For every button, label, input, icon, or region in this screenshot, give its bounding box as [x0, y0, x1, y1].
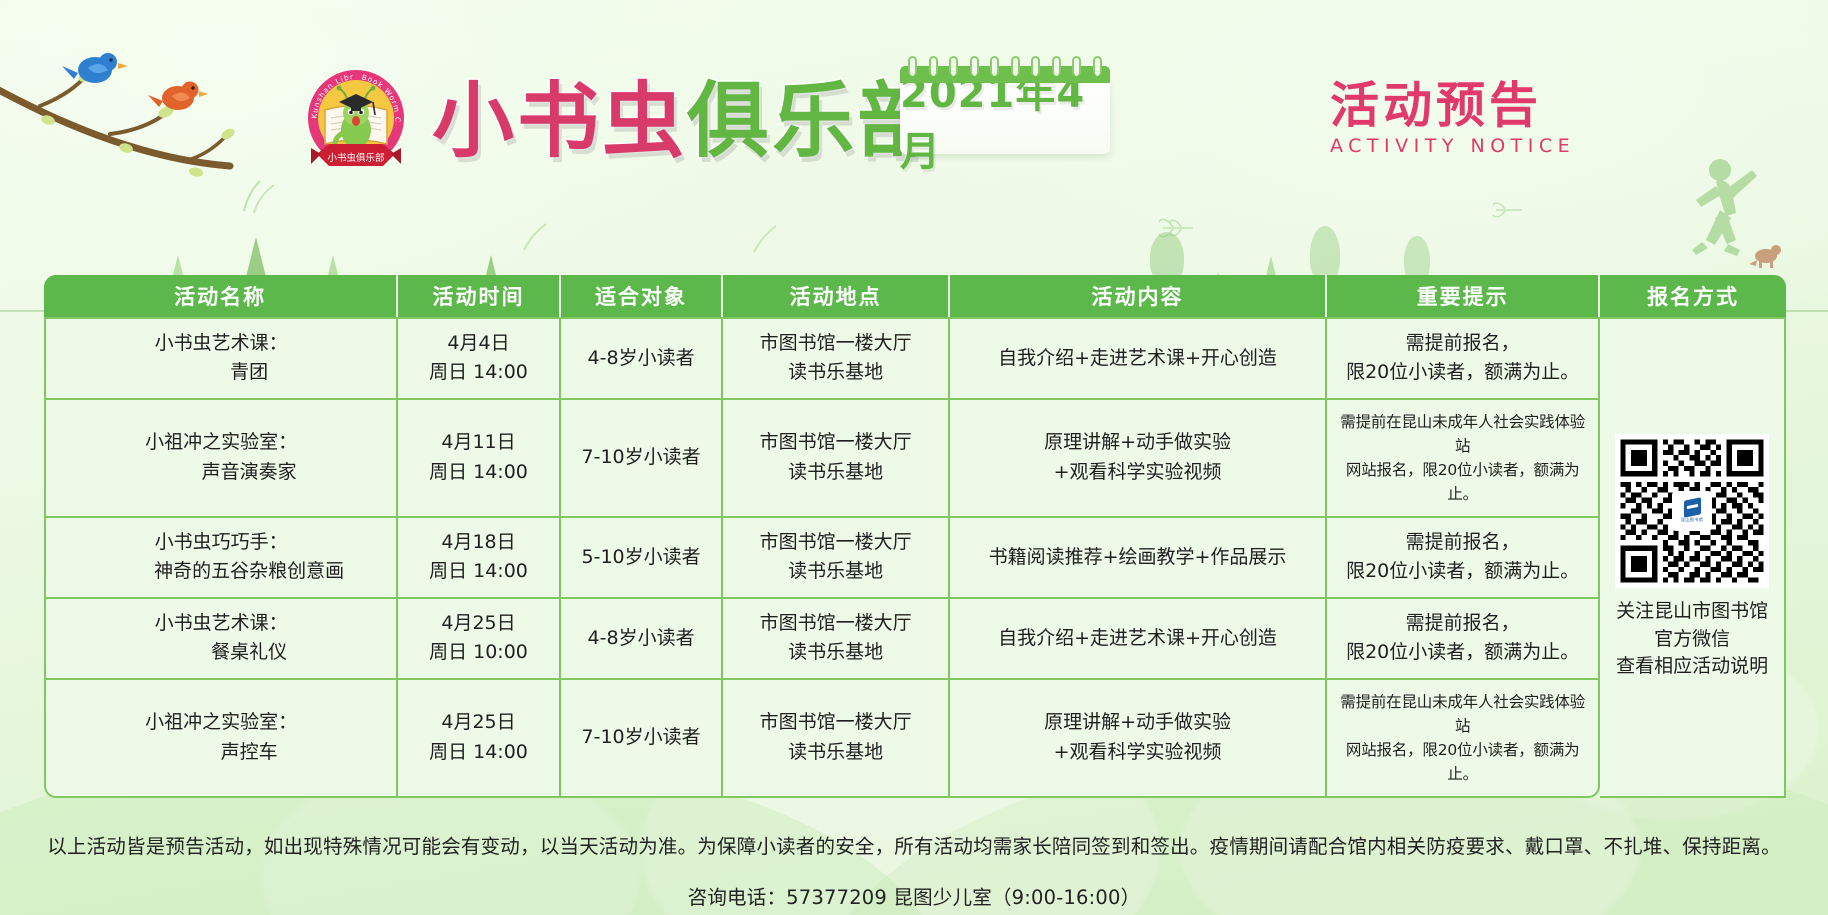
- note-line1: 需提前报名，: [1333, 528, 1592, 557]
- signup-line3: 查看相应活动说明: [1606, 653, 1778, 681]
- cell-content: 自我介绍+走进艺术课+开心创造: [950, 599, 1327, 680]
- cell-content: 原理讲解+动手做实验 +观看科学实验视频: [950, 400, 1327, 518]
- activity-name-line2: 神奇的五谷杂粮创意画: [52, 557, 390, 586]
- activity-name-line1: 小书虫艺术课：: [52, 329, 390, 358]
- table-row: 小书虫巧巧手： 神奇的五谷杂粮创意画 4月18日 周日 14:00 5-10岁小…: [44, 518, 1786, 599]
- library-logo-in-qr: 昆山图书馆: [1672, 491, 1712, 531]
- note-line2: 限20位小读者，额满为止。: [1333, 638, 1592, 667]
- cell-activity-name: 小书虫艺术课： 餐桌礼仪: [44, 599, 398, 680]
- qr-logo-label: 昆山图书馆: [1681, 517, 1703, 524]
- activity-date: 4月11日: [404, 428, 553, 457]
- activity-weekday-time: 周日 14:00: [404, 458, 553, 487]
- activity-notice-title: 活动预告 ACTIVITY NOTICE: [1330, 80, 1575, 157]
- signup-line1: 关注昆山市图书馆: [1606, 598, 1778, 626]
- activity-weekday-time: 周日 10:00: [404, 638, 553, 667]
- activity-name-line2: 餐桌礼仪: [52, 638, 390, 667]
- page-footer: 以上活动皆是预告活动，如出现特殊情况可能会有变动，以当天活动为准。为保障小读者的…: [0, 830, 1828, 910]
- cell-important-note: 需提前报名， 限20位小读者，额满为止。: [1327, 518, 1600, 599]
- cell-audience: 5-10岁小读者: [561, 518, 724, 599]
- content-line1: 书籍阅读推荐+绘画教学+作品展示: [956, 543, 1319, 572]
- cell-activity-time: 4月11日 周日 14:00: [398, 400, 561, 518]
- table-header-row: 活动名称 活动时间 适合对象 活动地点 活动内容 重要提示 报名方式: [44, 275, 1786, 317]
- cell-activity-name: 小书虫巧巧手： 神奇的五谷杂粮创意画: [44, 518, 398, 599]
- activity-date: 4月4日: [404, 329, 553, 358]
- footer-contact: 咨询电话：57377209 昆图少儿室（9:00-16:00）: [0, 881, 1828, 910]
- venue-line1: 市图书馆一楼大厅: [729, 528, 941, 557]
- cell-important-note: 需提前在昆山未成年人社会实践体验站 网站报名，限20位小读者，额满为止。: [1327, 680, 1600, 798]
- club-title: 小 书 虫 俱 乐 部: [432, 72, 882, 172]
- table-row: 小书虫艺术课： 青团 4月4日 周日 14:00 4-8岁小读者 市图书馆一楼大…: [44, 317, 1786, 400]
- cell-activity-name: 小祖冲之实验室： 声控车: [44, 680, 398, 798]
- cell-activity-time: 4月25日 周日 14:00: [398, 680, 561, 798]
- column-header-content: 活动内容: [950, 275, 1327, 317]
- activity-name-line1: 小祖冲之实验室：: [52, 428, 390, 457]
- content-line1: 原理讲解+动手做实验: [956, 708, 1319, 737]
- content-line2: +观看科学实验视频: [956, 458, 1319, 487]
- cell-audience: 4-8岁小读者: [561, 317, 724, 400]
- cell-venue: 市图书馆一楼大厅 读书乐基地: [723, 317, 949, 400]
- cell-audience: 7-10岁小读者: [561, 680, 724, 798]
- cell-activity-time: 4月25日 周日 10:00: [398, 599, 561, 680]
- schedule-table-wrapper: 活动名称 活动时间 适合对象 活动地点 活动内容 重要提示 报名方式 小书虫艺术…: [44, 275, 1786, 798]
- activity-weekday-time: 周日 14:00: [404, 358, 553, 387]
- activity-notice-cn: 活动预告: [1330, 80, 1575, 131]
- activity-weekday-time: 周日 14:00: [404, 738, 553, 767]
- note-line2: 限20位小读者，额满为止。: [1333, 358, 1592, 387]
- cell-audience: 4-8岁小读者: [561, 599, 724, 680]
- venue-line1: 市图书馆一楼大厅: [729, 428, 941, 457]
- activity-date: 4月25日: [404, 609, 553, 638]
- column-header-activity-time: 活动时间: [398, 275, 561, 317]
- column-header-venue: 活动地点: [723, 275, 949, 317]
- page-header: Kunshan Library Book Worm Club 小书虫俱乐部 小 …: [0, 0, 1828, 260]
- cell-activity-name: 小祖冲之实验室： 声音演奏家: [44, 400, 398, 518]
- cell-activity-time: 4月18日 周日 14:00: [398, 518, 561, 599]
- note-line1: 需提前在昆山未成年人社会实践体验站: [1333, 410, 1592, 458]
- signup-instructions: 关注昆山市图书馆 官方微信 查看相应活动说明: [1606, 598, 1778, 681]
- club-logo: Kunshan Library Book Worm Club 小书虫俱乐部: [303, 68, 409, 174]
- activity-name-line2: 声控车: [52, 738, 390, 767]
- club-title-char: 小: [432, 81, 515, 163]
- column-header-signup: 报名方式: [1600, 275, 1786, 317]
- content-line1: 自我介绍+走进艺术课+开心创造: [956, 624, 1319, 653]
- cell-content: 书籍阅读推荐+绘画教学+作品展示: [950, 518, 1327, 599]
- activity-name-line1: 小书虫巧巧手：: [52, 528, 390, 557]
- calendar-body: 2021年4月: [900, 83, 1110, 154]
- venue-line2: 读书乐基地: [729, 557, 941, 586]
- content-line1: 原理讲解+动手做实验: [956, 428, 1319, 457]
- cell-activity-time: 4月4日 周日 14:00: [398, 317, 561, 400]
- schedule-table: 活动名称 活动时间 适合对象 活动地点 活动内容 重要提示 报名方式 小书虫艺术…: [44, 275, 1786, 798]
- note-line1: 需提前报名，: [1333, 329, 1592, 358]
- venue-line2: 读书乐基地: [729, 458, 941, 487]
- cell-important-note: 需提前在昆山未成年人社会实践体验站 网站报名，限20位小读者，额满为止。: [1327, 400, 1600, 518]
- column-header-audience: 适合对象: [561, 275, 724, 317]
- club-title-char: 乐: [772, 81, 855, 163]
- content-line1: 自我介绍+走进艺术课+开心创造: [956, 344, 1319, 373]
- club-title-char: 书: [517, 81, 600, 163]
- cell-content: 自我介绍+走进艺术课+开心创造: [950, 317, 1327, 400]
- cell-venue: 市图书馆一楼大厅 读书乐基地: [723, 599, 949, 680]
- activity-weekday-time: 周日 14:00: [404, 557, 553, 586]
- club-title-char: 俱: [687, 81, 770, 163]
- venue-line1: 市图书馆一楼大厅: [729, 329, 941, 358]
- activity-notice-en: ACTIVITY NOTICE: [1330, 135, 1575, 157]
- table-row: 小祖冲之实验室： 声音演奏家 4月11日 周日 14:00 7-10岁小读者 市…: [44, 400, 1786, 518]
- activity-name-line1: 小祖冲之实验室：: [52, 708, 390, 737]
- signup-line2: 官方微信: [1606, 626, 1778, 654]
- calendar-card: 2021年4月: [900, 66, 1110, 154]
- table-row: 小祖冲之实验室： 声控车 4月25日 周日 14:00 7-10岁小读者 市图书…: [44, 680, 1786, 798]
- note-line1: 需提前报名，: [1333, 609, 1592, 638]
- cell-signup-method: 昆山图书馆 关注昆山市图书馆 官方微信 查看相应活动说明: [1600, 317, 1786, 798]
- cell-important-note: 需提前报名， 限20位小读者，额满为止。: [1327, 599, 1600, 680]
- svg-text:小书虫俱乐部: 小书虫俱乐部: [327, 152, 384, 164]
- cell-venue: 市图书馆一楼大厅 读书乐基地: [723, 400, 949, 518]
- wechat-qr-code[interactable]: 昆山图书馆: [1615, 434, 1769, 588]
- note-line2: 网站报名，限20位小读者，额满为止。: [1333, 738, 1592, 786]
- cell-important-note: 需提前报名， 限20位小读者，额满为止。: [1327, 317, 1600, 400]
- column-header-important-note: 重要提示: [1327, 275, 1600, 317]
- activity-date: 4月25日: [404, 708, 553, 737]
- activity-name-line2: 声音演奏家: [52, 458, 390, 487]
- note-line1: 需提前在昆山未成年人社会实践体验站: [1333, 690, 1592, 738]
- cell-audience: 7-10岁小读者: [561, 400, 724, 518]
- note-line2: 限20位小读者，额满为止。: [1333, 557, 1592, 586]
- venue-line2: 读书乐基地: [729, 738, 941, 767]
- calendar-binding-strip: [900, 66, 1110, 83]
- cell-content: 原理讲解+动手做实验 +观看科学实验视频: [950, 680, 1327, 798]
- activity-name-line1: 小书虫艺术课：: [52, 609, 390, 638]
- column-header-activity-name: 活动名称: [44, 275, 398, 317]
- venue-line2: 读书乐基地: [729, 638, 941, 667]
- calendar-rings: [908, 56, 1102, 76]
- content-line2: +观看科学实验视频: [956, 738, 1319, 767]
- note-line2: 网站报名，限20位小读者，额满为止。: [1333, 458, 1592, 506]
- venue-line2: 读书乐基地: [729, 358, 941, 387]
- footer-disclaimer: 以上活动皆是预告活动，如出现特殊情况可能会有变动，以当天活动为准。为保障小读者的…: [0, 830, 1828, 859]
- cell-venue: 市图书馆一楼大厅 读书乐基地: [723, 518, 949, 599]
- club-title-char: 虫: [602, 81, 685, 163]
- activity-name-line2: 青团: [52, 358, 390, 387]
- cell-activity-name: 小书虫艺术课： 青团: [44, 317, 398, 400]
- table-row: 小书虫艺术课： 餐桌礼仪 4月25日 周日 10:00 4-8岁小读者 市图书馆…: [44, 599, 1786, 680]
- cell-venue: 市图书馆一楼大厅 读书乐基地: [723, 680, 949, 798]
- venue-line1: 市图书馆一楼大厅: [729, 708, 941, 737]
- venue-line1: 市图书馆一楼大厅: [729, 609, 941, 638]
- activity-date: 4月18日: [404, 528, 553, 557]
